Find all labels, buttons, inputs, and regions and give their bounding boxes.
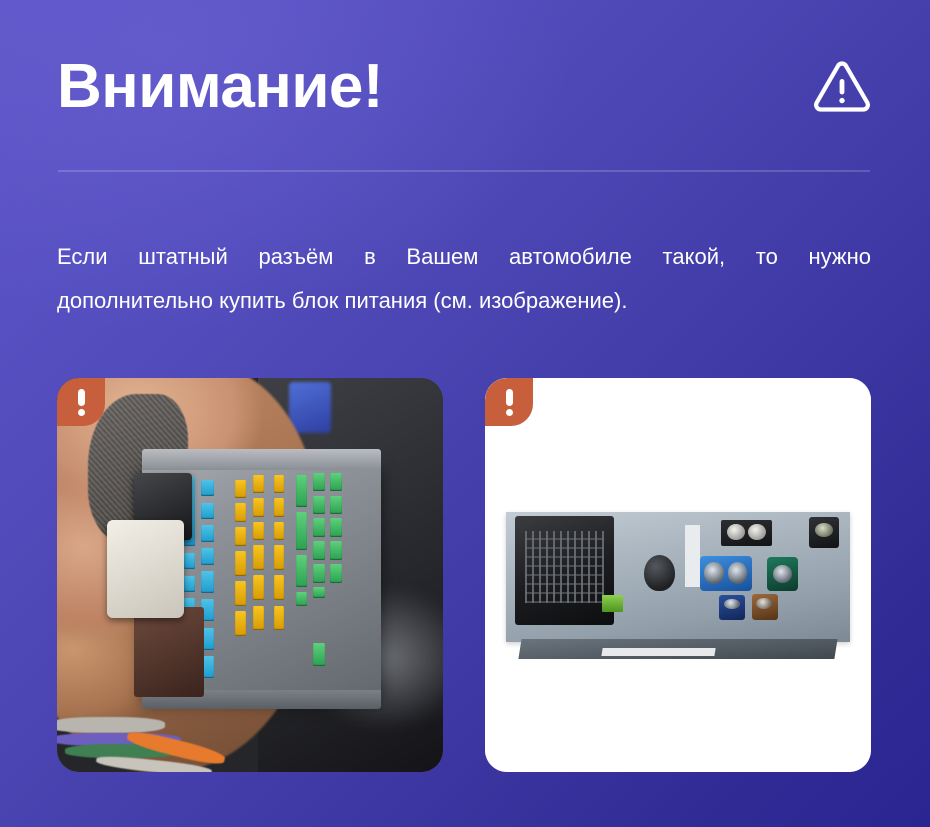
page-title: Внимание! [57, 51, 383, 123]
warning-triangle-icon [811, 57, 873, 117]
warning-badge-right [485, 378, 533, 426]
image-cards [57, 378, 871, 772]
card-car-connector[interactable] [57, 378, 443, 772]
description-line-2: дополнительно купить блок питания (см. и… [57, 279, 871, 323]
exclamation-dot [506, 409, 513, 416]
warning-banner: Внимание! Если штатный разъём в Вашем ав… [0, 0, 930, 827]
exclamation-dot [78, 409, 85, 416]
exclamation-icon [506, 389, 513, 406]
header-divider [58, 170, 870, 172]
description-line-1: Если штатный разъём в Вашем автомобиле т… [57, 235, 871, 279]
warning-badge-left [57, 378, 105, 426]
banner-header: Внимание! [57, 46, 873, 128]
car-connector-image [57, 378, 443, 772]
card-power-supply[interactable] [485, 378, 871, 772]
power-supply-image [485, 378, 871, 772]
banner-description: Если штатный разъём в Вашем автомобиле т… [57, 235, 871, 323]
exclamation-icon [78, 389, 85, 406]
